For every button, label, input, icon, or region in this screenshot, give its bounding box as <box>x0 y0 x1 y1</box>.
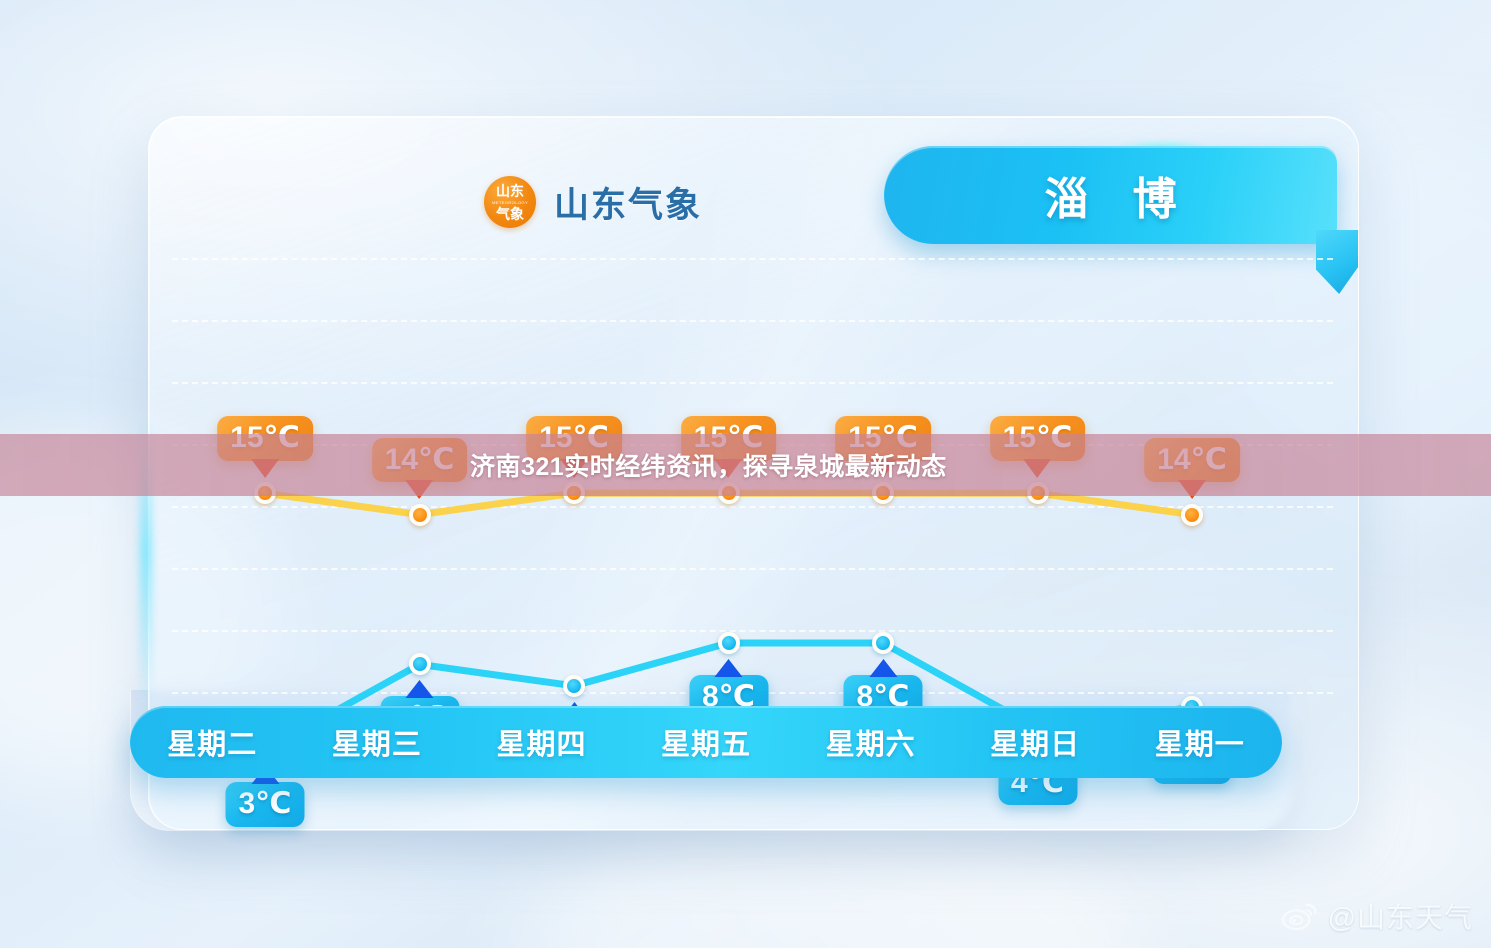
weekday-label[interactable]: 星期三 <box>295 721 460 763</box>
screenshot-root: 山东 METEOROLOGY 气象 山东气象 淄 博 15℃14℃15℃15℃1… <box>0 0 1491 948</box>
weekday-label[interactable]: 星期一 <box>1117 721 1282 763</box>
watermark: @山东天气 <box>1281 896 1473 936</box>
caption-text: 济南321实时经纬资讯，探寻泉城最新动态 <box>470 447 947 483</box>
low-temp-point[interactable] <box>872 632 894 654</box>
high-temp-point[interactable] <box>409 504 431 526</box>
low-temp-point[interactable] <box>563 675 585 697</box>
caption-banner: 济南321实时经纬资讯，探寻泉城最新动态 <box>0 434 1491 496</box>
weekday-label[interactable]: 星期二 <box>130 721 295 763</box>
weekday-label[interactable]: 星期四 <box>459 721 624 763</box>
watermark-handle: @山东天气 <box>1328 896 1473 936</box>
weibo-icon <box>1281 901 1319 931</box>
high-temp-point[interactable] <box>1181 504 1203 526</box>
low-temp-label: 3℃ <box>225 782 304 827</box>
weekday-label[interactable]: 星期日 <box>953 721 1118 763</box>
weekday-label[interactable]: 星期五 <box>624 721 789 763</box>
weekday-label[interactable]: 星期六 <box>788 721 953 763</box>
low-temp-point[interactable] <box>718 632 740 654</box>
low-temp-point[interactable] <box>409 653 431 675</box>
weekday-axis-bar: 星期二星期三星期四星期五星期六星期日星期一 <box>130 706 1282 778</box>
